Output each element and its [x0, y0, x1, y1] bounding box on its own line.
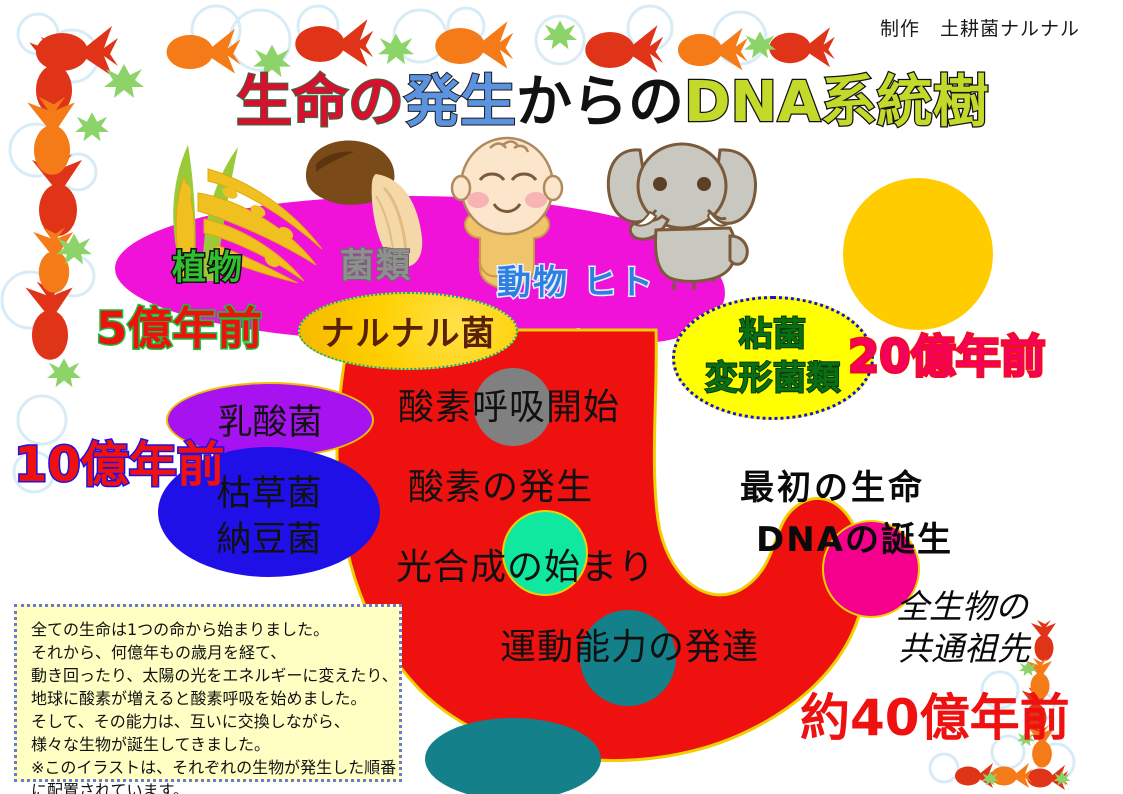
category-label-animals: 動物 ヒト — [497, 255, 655, 304]
caption-line: ※このイラストは、それぞれの生物が発生した順番 — [31, 757, 389, 778]
goldfish-icon — [25, 37, 82, 360]
credit-text: 制作 土耕菌ナルナル — [880, 14, 1080, 41]
slime-mold-label-line2: 変形菌類 — [675, 351, 871, 399]
caption-line: それから、何億年もの歳月を経て、 — [31, 642, 389, 663]
caption-box: 全ての生命は1つの命から始まりました。 それから、何億年もの歳月を経て、 動き回… — [14, 604, 402, 782]
caption-line: 全ての生命は1つの命から始まりました。 — [31, 619, 389, 640]
event-label-oxygen-respiration: 酸素呼吸開始 — [398, 378, 620, 430]
motility-blob-2 — [425, 718, 601, 794]
bacillus-label-line2: 納豆菌 — [158, 511, 380, 562]
poster-canvas: 制作 土耕菌ナルナル 生命の発生からのDNA系統樹 — [0, 0, 1123, 794]
era-label-4-billion: 約40億年前 — [800, 678, 1070, 750]
common-ancestor-line1: 全生物の — [896, 580, 1028, 628]
goldfish-icon — [991, 763, 1032, 788]
page-title: 生命の発生からのDNA系統樹 — [236, 57, 989, 138]
event-label-photosynthesis: 光合成の始まり — [396, 538, 655, 590]
era-label-1-billion: 10億年前 — [14, 425, 225, 495]
event-label-oxygen-generation: 酸素の発生 — [408, 458, 593, 510]
category-label-fungi: 菌類 — [340, 238, 412, 287]
caption-line: 様々な生物が誕生してきました。 — [31, 734, 389, 755]
title-segment-red: 生命の — [236, 57, 404, 138]
goldfish-icon — [27, 97, 75, 293]
event-label-motility: 運動能力の発達 — [500, 618, 759, 670]
title-segment-green: DNA系統樹 — [684, 57, 989, 138]
first-life-label: 最初の生命 — [740, 460, 925, 509]
common-ancestor-line2: 共通祖先 — [898, 622, 1030, 670]
maple-leaf-icon — [982, 771, 1071, 785]
narunaru-label: ナルナル菌 — [300, 306, 516, 355]
caption-line: そして、その能力は、互いに交換しながら、 — [31, 711, 389, 732]
slime-mold-ellipse: 粘菌 変形菌類 — [672, 296, 874, 420]
era-label-500-million: 5億年前 — [96, 292, 262, 357]
caption-line: 動き回ったり、太陽の光をエネルギーに変えたり、 — [31, 665, 389, 686]
goldfish-icon — [955, 763, 1068, 790]
title-segment-black: からの — [516, 57, 684, 138]
title-segment-blue: 発生 — [404, 57, 516, 138]
narunaru-bacteria-ellipse: ナルナル菌 — [298, 292, 518, 370]
caption-line: 地球に酸素が増えると酸素呼吸を始めました。 — [31, 688, 389, 709]
category-label-plants: 植物 — [172, 240, 244, 289]
era-label-2-billion: 20億年前 — [848, 320, 1046, 385]
caption-line: に配置されています。 — [31, 780, 389, 794]
dna-birth-label: DNAの誕生 — [756, 512, 953, 561]
slime-mold-label-line1: 粘菌 — [675, 307, 871, 355]
